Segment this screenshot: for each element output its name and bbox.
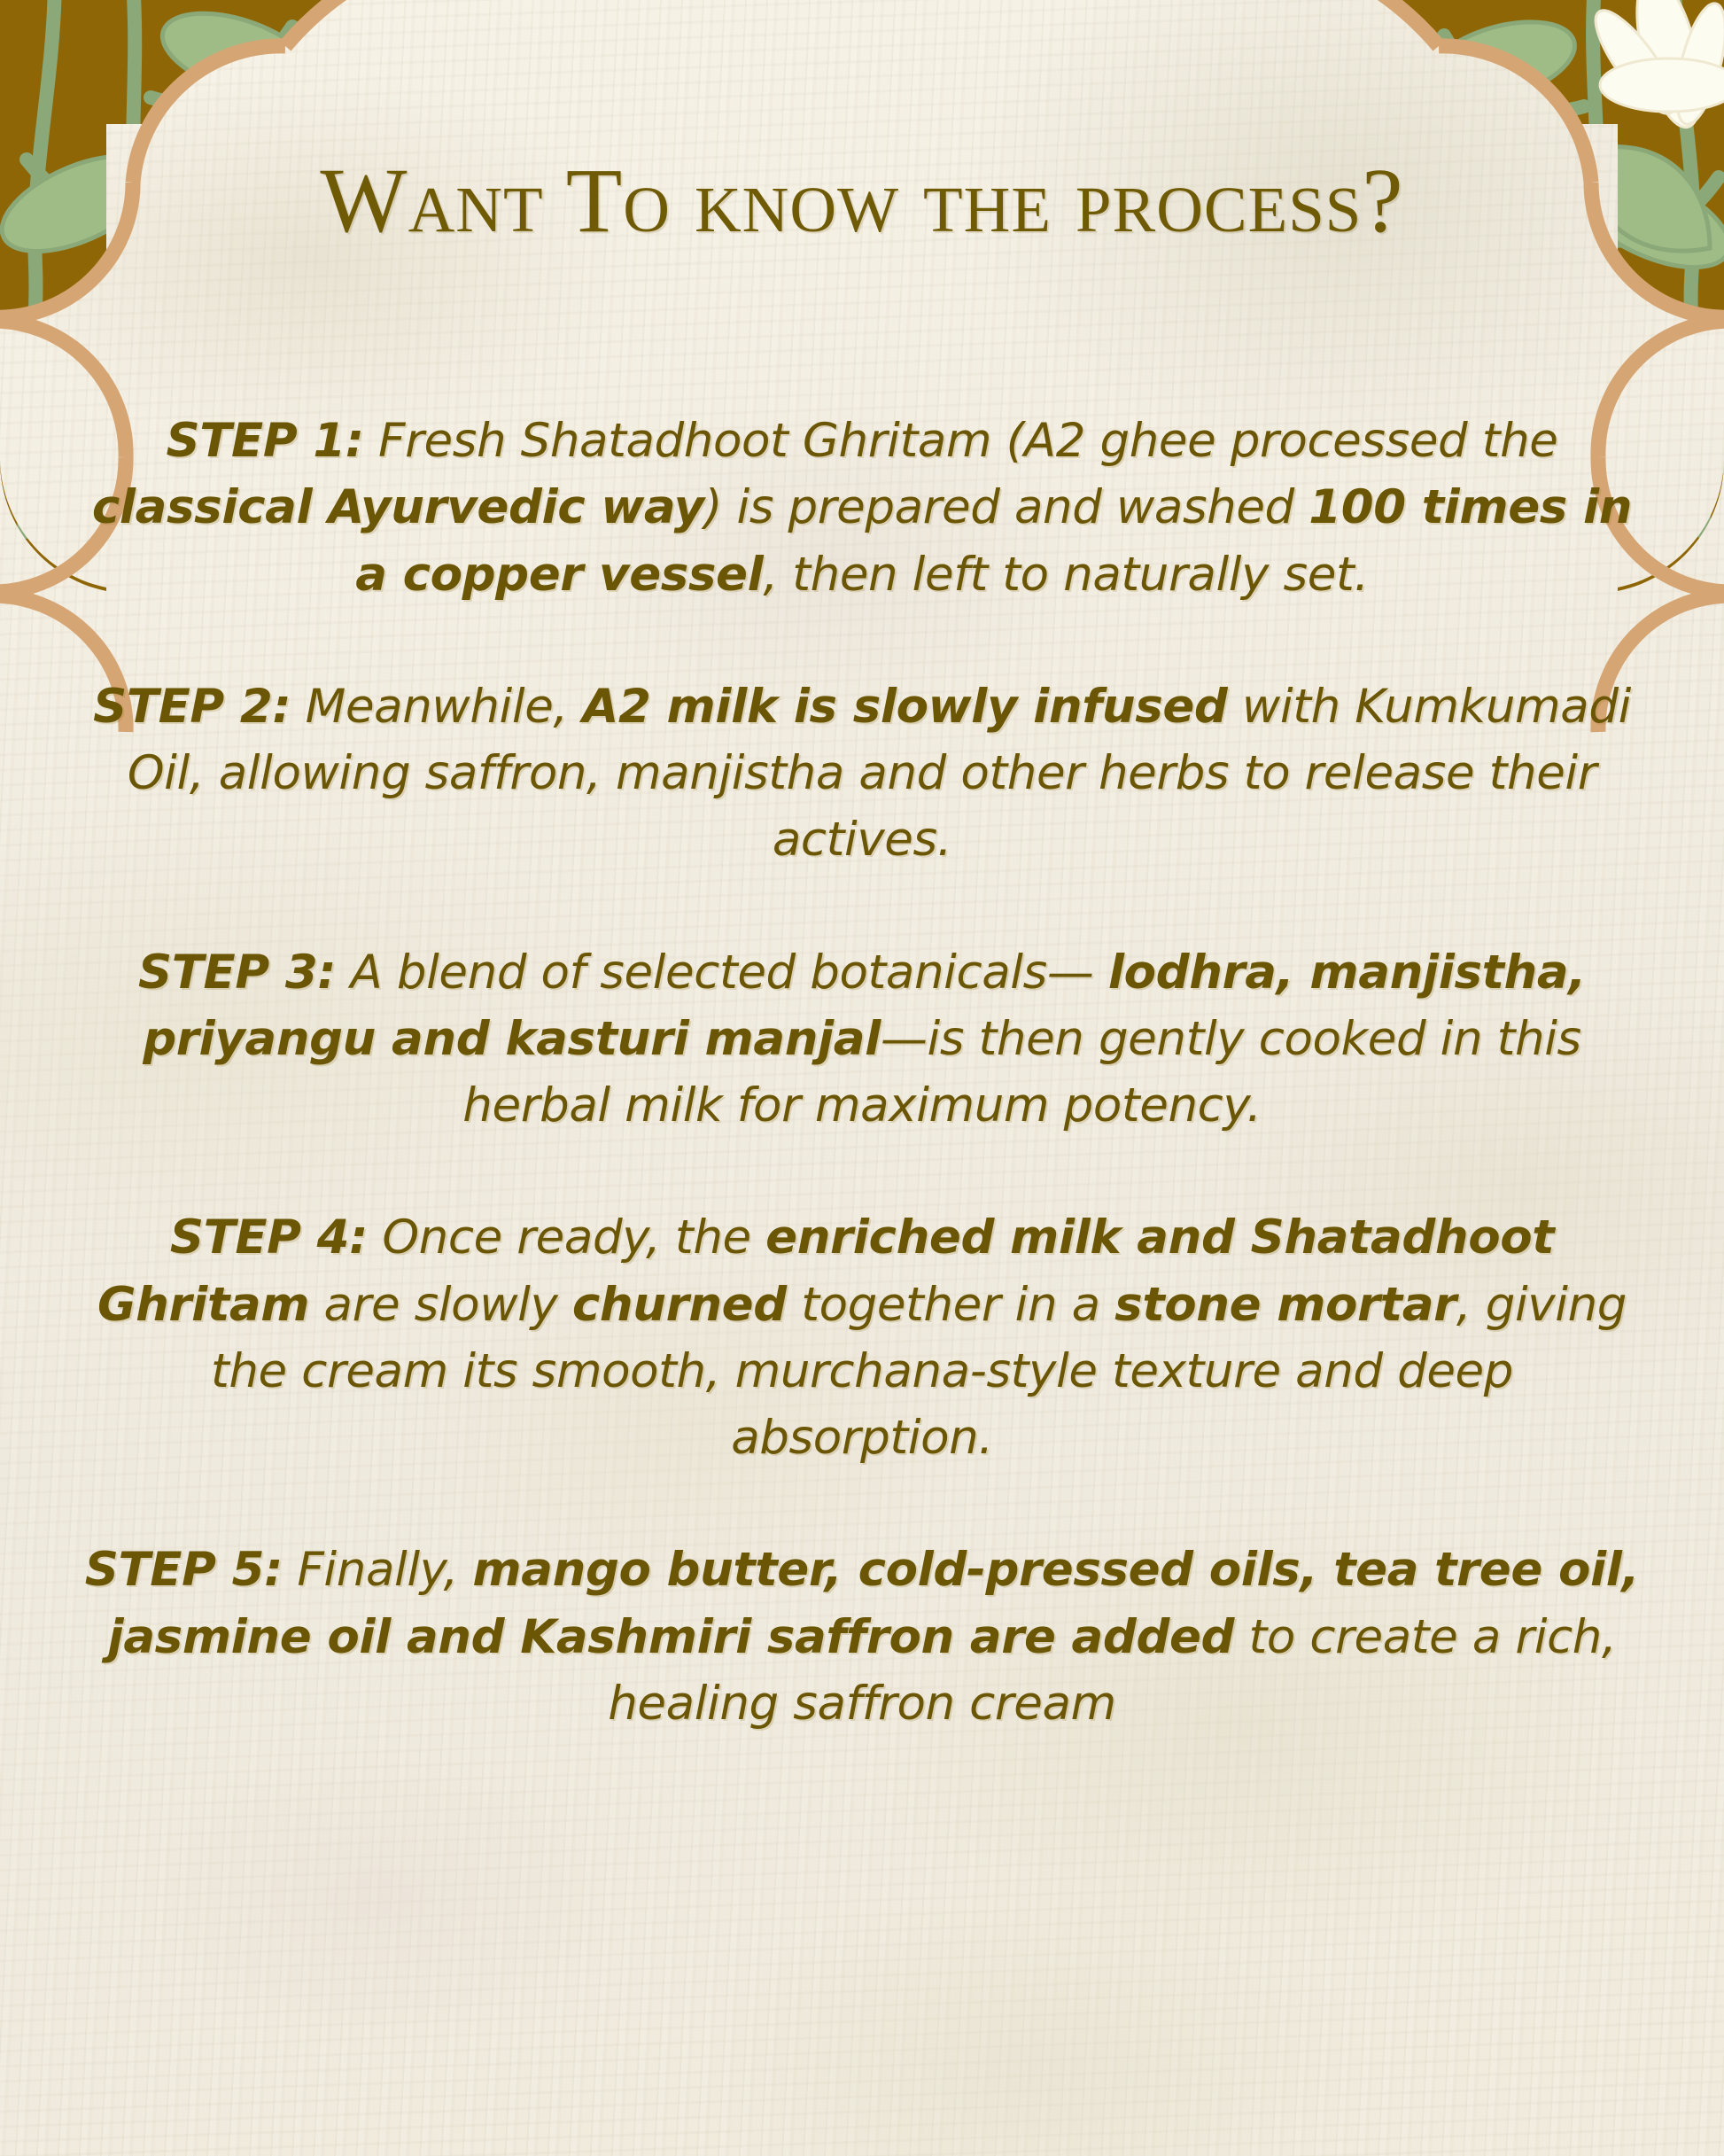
step-4-text: Once ready, the: [368, 1210, 765, 1265]
step-4-text: together in a: [787, 1278, 1114, 1332]
step-4: STEP 4: Once ready, the enriched milk an…: [76, 1204, 1648, 1471]
process-steps-list: STEP 1: Fresh Shatadhoot Ghritam (A2 ghe…: [76, 408, 1648, 1737]
step-3: STEP 3: A blend of selected botanicals— …: [76, 939, 1648, 1140]
step-5-label: STEP 5:: [85, 1543, 283, 1597]
process-poster: Want To know the process? STEP 1: Fresh …: [0, 0, 1724, 2156]
step-3-label: STEP 3:: [138, 946, 336, 1000]
page-title: Want To know the process?: [0, 154, 1724, 248]
step-4-text: are slowly: [309, 1278, 572, 1332]
step-4-emphasis: stone mortar: [1114, 1278, 1456, 1332]
step-2-text: Meanwhile,: [291, 680, 582, 734]
step-1: STEP 1: Fresh Shatadhoot Ghritam (A2 ghe…: [76, 408, 1648, 608]
step-4-emphasis: churned: [572, 1278, 787, 1332]
step-3-text: A blend of selected botanicals—: [336, 946, 1108, 1000]
step-1-emphasis: classical Ayurvedic way: [92, 480, 704, 534]
step-4-label: STEP 4:: [170, 1210, 368, 1265]
step-5: STEP 5: Finally, mango butter, cold-pres…: [76, 1537, 1648, 1737]
step-1-label: STEP 1:: [167, 414, 364, 468]
step-5-text: Finally,: [283, 1543, 473, 1597]
step-2-label: STEP 2:: [93, 680, 291, 734]
step-1-text: ) is prepared and washed: [704, 480, 1309, 534]
step-2-emphasis: A2 milk is slowly infused: [582, 680, 1227, 734]
step-1-text: , then left to naturally set.: [763, 548, 1368, 602]
step-2: STEP 2: Meanwhile, A2 milk is slowly inf…: [76, 673, 1648, 874]
poster-content: Want To know the process? STEP 1: Fresh …: [0, 0, 1724, 2156]
step-1-text: Fresh Shatadhoot Ghritam (A2 ghee proces…: [364, 414, 1558, 468]
